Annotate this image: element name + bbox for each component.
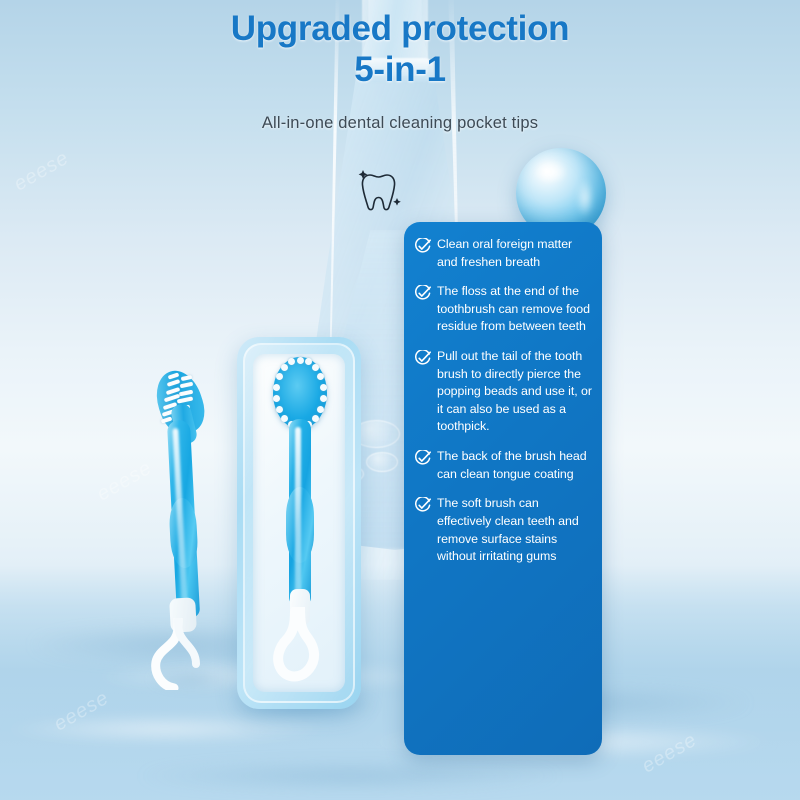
pearl-highlight-secondary xyxy=(576,178,594,218)
headline-line-1: Upgraded protection xyxy=(231,9,569,48)
floor-ripple xyxy=(140,761,560,791)
watermark: eeese xyxy=(93,457,156,507)
feature-list-panel: Clean oral foreign matter and freshen br… xyxy=(404,222,602,755)
bristle-dot xyxy=(281,415,288,422)
watermark: eeese xyxy=(10,147,73,197)
tooth-icon xyxy=(356,162,408,218)
check-circle-icon xyxy=(414,450,431,467)
headline-line-2: 5-in-1 xyxy=(0,49,800,90)
dental-brush-floss-pick xyxy=(150,368,220,684)
check-circle-icon xyxy=(414,497,431,514)
floss-pick-fork xyxy=(144,618,214,690)
bristle-dot xyxy=(297,357,304,364)
bristle-dot xyxy=(276,373,283,380)
check-circle-icon xyxy=(414,350,431,367)
feature-item: The floss at the end of the toothbrush c… xyxy=(414,283,592,336)
feature-text: The soft brush can effectively clean tee… xyxy=(437,495,592,565)
feature-text: Pull out the tail of the tooth brush to … xyxy=(437,348,592,436)
bristle-dot xyxy=(273,384,280,391)
bottle-bubble xyxy=(366,452,398,472)
feature-text: Clean oral foreign matter and freshen br… xyxy=(437,236,592,271)
pearl-highlight xyxy=(534,160,568,184)
bristle-dot xyxy=(312,415,319,422)
subtitle: All-in-one dental cleaning pocket tips xyxy=(0,114,800,133)
check-circle-icon xyxy=(414,238,431,255)
packed-brush xyxy=(263,357,337,687)
blister-packed-dental-brush xyxy=(237,337,361,709)
bristle-dot xyxy=(276,406,283,413)
feature-item: The back of the brush head can clean ton… xyxy=(414,448,592,483)
bristle-dot xyxy=(320,384,327,391)
feature-item: Clean oral foreign matter and freshen br… xyxy=(414,236,592,271)
packed-brush-highlight xyxy=(295,427,301,599)
feature-text: The floss at the end of the toothbrush c… xyxy=(437,283,592,336)
feature-text: The back of the brush head can clean ton… xyxy=(437,448,592,483)
water-floor xyxy=(0,565,800,800)
feature-item: Pull out the tail of the tooth brush to … xyxy=(414,348,592,436)
bristle-dot xyxy=(317,406,324,413)
packed-floss-pick-fork xyxy=(259,607,341,693)
product-marketing-image: Upgraded protection 5-in-1 All-in-one de… xyxy=(0,0,800,800)
check-circle-icon xyxy=(414,285,431,302)
page-title: Upgraded protection 5-in-1 xyxy=(0,8,800,91)
feature-item: The soft brush can effectively clean tee… xyxy=(414,495,592,565)
